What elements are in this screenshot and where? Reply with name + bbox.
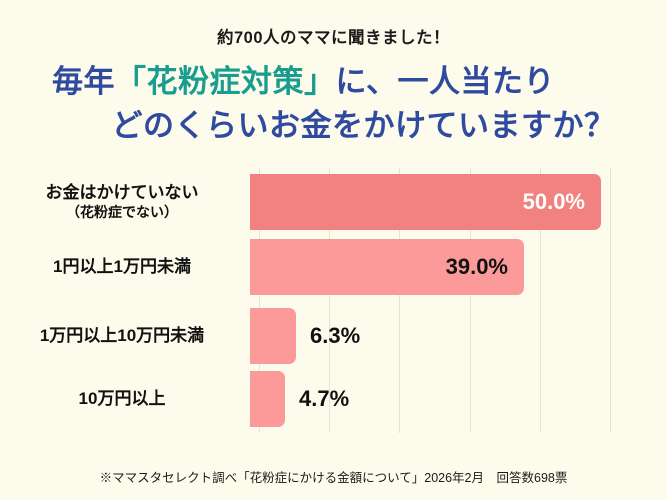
bar-segment[interactable] (250, 371, 285, 427)
bar-chart: お金はかけていない （花粉症でない） 50.0% 1円以上1万円未満 39.0% (0, 168, 667, 433)
title-segment-kafunsho-taisaku: 「花粉症対策」 (115, 64, 336, 99)
bar-value-label: 4.7% (285, 371, 349, 427)
chart-row: 1円以上1万円未満 39.0% (0, 239, 667, 295)
infographic-page: 約700人のママに聞きました！ 毎年「花粉症対策」に、一人当たり どのくらいお金… (0, 0, 667, 500)
source-note: ※ママスタセレクト調べ「花粉症にかける金額について」2026年2月 回答数698… (0, 467, 667, 486)
bar-rows: お金はかけていない （花粉症でない） 50.0% 1円以上1万円未満 39.0% (0, 168, 667, 433)
category-label-sub: （花粉症でない） (0, 204, 244, 221)
page-title: 毎年「花粉症対策」に、一人当たり どのくらいお金をかけていますか？ (0, 60, 667, 148)
chart-row: 1万円以上10万円未満 6.3% (0, 308, 667, 364)
title-line-1: 毎年「花粉症対策」に、一人当たり (0, 60, 667, 104)
bar-track: 4.7% (250, 371, 667, 427)
category-label: 1円以上1万円未満 (0, 257, 250, 278)
title-line-2: どのくらいお金をかけていますか？ (0, 104, 667, 148)
bar-track: 39.0% (250, 239, 667, 295)
bar-segment[interactable]: 50.0% (250, 174, 601, 230)
bar-track: 6.3% (250, 308, 667, 364)
category-label: 10万円以上 (0, 389, 250, 410)
category-label-main: 10万円以上 (0, 389, 244, 410)
chart-row: お金はかけていない （花粉症でない） 50.0% (0, 174, 667, 230)
chart-row: 10万円以上 4.7% (0, 371, 667, 427)
survey-subtitle: 約700人のママに聞きました！ (0, 24, 667, 48)
title-segment-hitori-atari: に、一人当たり (335, 64, 555, 99)
bar-segment[interactable]: 39.0% (250, 239, 524, 295)
category-label: お金はかけていない （花粉症でない） (0, 183, 250, 221)
bar-value-label: 50.0% (523, 189, 601, 215)
category-label-main: お金はかけていない (0, 183, 244, 204)
category-label-main: 1円以上1万円未満 (0, 257, 244, 278)
bar-segment[interactable] (250, 308, 296, 364)
bar-track: 50.0% (250, 174, 667, 230)
category-label-main: 1万円以上10万円未満 (0, 326, 244, 347)
bar-value-label: 39.0% (446, 254, 524, 280)
bar-value-label: 6.3% (296, 308, 360, 364)
category-label: 1万円以上10万円未満 (0, 326, 250, 347)
title-segment-maitoshi: 毎年 (52, 64, 115, 99)
